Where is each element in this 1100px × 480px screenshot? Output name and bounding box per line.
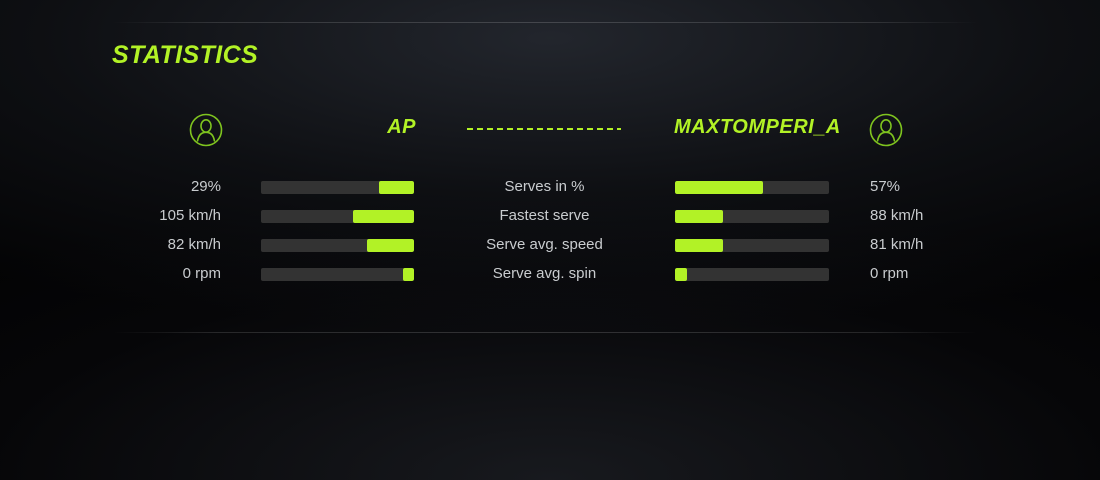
- player-separator-dashed-line: [467, 128, 621, 130]
- stat-value-right: 81 km/h: [870, 234, 978, 256]
- user-avatar-icon: [864, 108, 908, 152]
- statistics-panel: STATISTICS AP MAXTOMPERI_A 29%: [0, 0, 1100, 480]
- stat-bar-right-fill: [675, 239, 723, 252]
- stat-value-left: 82 km/h: [112, 234, 221, 256]
- avatar-right-player[interactable]: [864, 108, 908, 152]
- stat-bar-left-fill: [379, 181, 414, 194]
- stat-label: Serve avg. speed: [424, 234, 665, 256]
- stat-bar-right-fill: [675, 268, 687, 281]
- player-name-right: MAXTOMPERI_A: [674, 116, 830, 139]
- page-title: STATISTICS: [112, 41, 258, 70]
- stat-row: 82 km/h Serve avg. speed 81 km/h: [112, 234, 978, 263]
- stat-value-right: 57%: [870, 176, 978, 198]
- stat-value-right: 0 rpm: [870, 263, 978, 285]
- stat-value-left: 105 km/h: [112, 205, 221, 227]
- stat-row: 29% Serves in % 57%: [112, 176, 978, 205]
- stat-bar-left: [261, 239, 414, 252]
- stat-bar-right: [675, 268, 829, 281]
- stat-row: 105 km/h Fastest serve 88 km/h: [112, 205, 978, 234]
- avatar-left-player[interactable]: [184, 108, 228, 152]
- stat-label: Serves in %: [424, 176, 665, 198]
- stats-list: 29% Serves in % 57% 105 km/h Fastest ser…: [112, 176, 978, 292]
- divider-bottom: [112, 332, 978, 333]
- stat-bar-right-fill: [675, 181, 763, 194]
- stat-row: 0 rpm Serve avg. spin 0 rpm: [112, 263, 978, 292]
- stat-bar-left: [261, 210, 414, 223]
- stat-value-left: 29%: [112, 176, 221, 198]
- divider-top: [112, 22, 978, 23]
- stat-bar-right: [675, 239, 829, 252]
- players-header: AP MAXTOMPERI_A: [112, 108, 978, 152]
- stat-bar-left: [261, 268, 414, 281]
- player-name-left: AP: [292, 116, 416, 139]
- stat-bar-right: [675, 181, 829, 194]
- stat-bar-right: [675, 210, 829, 223]
- stat-bar-right-fill: [675, 210, 723, 223]
- stat-bar-left-fill: [353, 210, 414, 223]
- stat-bar-left-fill: [403, 268, 414, 281]
- stat-label: Serve avg. spin: [424, 263, 665, 285]
- stat-value-left: 0 rpm: [112, 263, 221, 285]
- stat-value-right: 88 km/h: [870, 205, 978, 227]
- stat-bar-left-fill: [367, 239, 414, 252]
- stat-label: Fastest serve: [424, 205, 665, 227]
- user-avatar-icon: [184, 108, 228, 152]
- stat-bar-left: [261, 181, 414, 194]
